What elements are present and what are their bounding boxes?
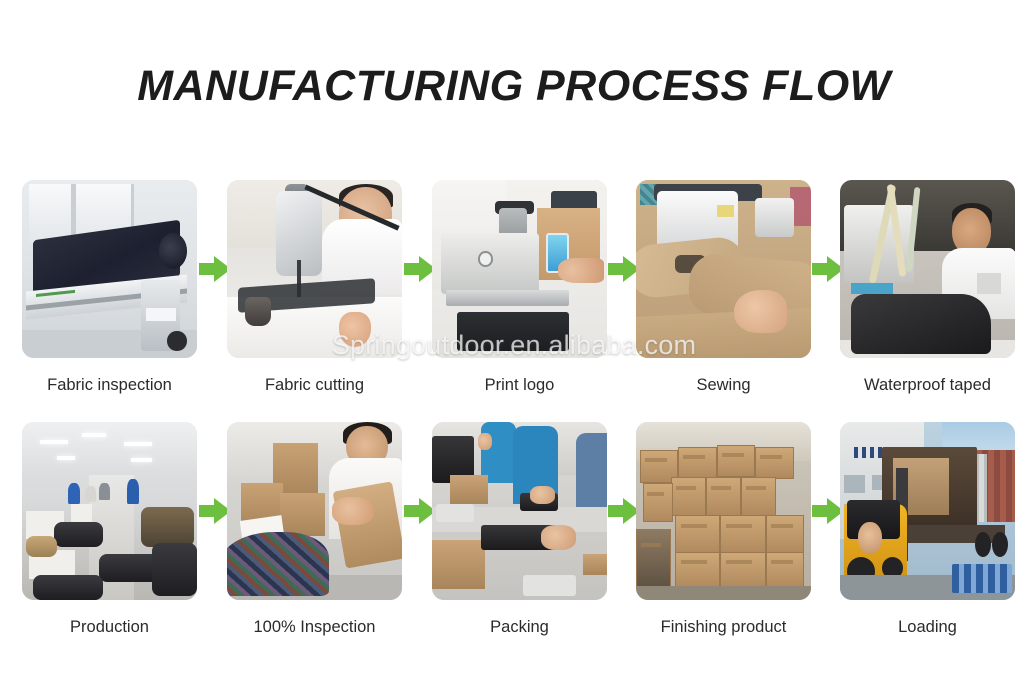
step-thumbnail[interactable] [432,422,607,600]
page-title: MANUFACTURING PROCESS FLOW [0,62,1028,111]
process-row-2: Production 100% Inspection [0,422,1028,644]
step-thumbnail[interactable] [840,180,1015,358]
process-step-waterproof-taped[interactable]: Waterproof taped [840,180,1015,395]
step-thumbnail[interactable] [840,422,1015,600]
step-label: Fabric cutting [227,376,402,395]
factory-floor-image [22,422,197,600]
fabric-inspection-machine-image [22,180,197,358]
seam-sealing-machine-image [840,180,1015,358]
process-row-1: Fabric inspection Fabric cutting [0,180,1028,402]
step-thumbnail[interactable] [227,180,402,358]
process-step-fabric-cutting[interactable]: Fabric cutting [227,180,402,395]
heat-press-printing-image [432,180,607,358]
step-thumbnail[interactable] [227,422,402,600]
step-thumbnail[interactable] [636,422,811,600]
step-thumbnail[interactable] [22,180,197,358]
forklift-container-loading-image [840,422,1015,600]
process-step-production[interactable]: Production [22,422,197,637]
carton-warehouse-image [636,422,811,600]
step-thumbnail[interactable] [636,180,811,358]
step-label: Waterproof taped [840,376,1015,395]
process-step-finishing-product[interactable]: Finishing product [636,422,811,637]
step-label: Loading [840,618,1015,637]
industrial-sewing-machine-image [636,180,811,358]
process-step-print-logo[interactable]: Print logo [432,180,607,395]
band-knife-cutting-image [227,180,402,358]
step-label: 100% Inspection [227,618,402,637]
step-label: Sewing [636,376,811,395]
step-label: Packing [432,618,607,637]
process-step-fabric-inspection[interactable]: Fabric inspection [22,180,197,395]
step-label: Finishing product [636,618,811,637]
garment-inspection-image [227,422,402,600]
step-label: Production [22,618,197,637]
step-thumbnail[interactable] [432,180,607,358]
step-label: Print logo [432,376,607,395]
process-step-sewing[interactable]: Sewing [636,180,811,395]
folding-and-boxing-image [432,422,607,600]
step-thumbnail[interactable] [22,422,197,600]
step-label: Fabric inspection [22,376,197,395]
manufacturing-process-flow-page: MANUFACTURING PROCESS FLOW Fabric inspec… [0,0,1028,693]
process-step-packing[interactable]: Packing [432,422,607,637]
process-step-100-percent-inspection[interactable]: 100% Inspection [227,422,402,637]
process-step-loading[interactable]: Loading [840,422,1015,637]
